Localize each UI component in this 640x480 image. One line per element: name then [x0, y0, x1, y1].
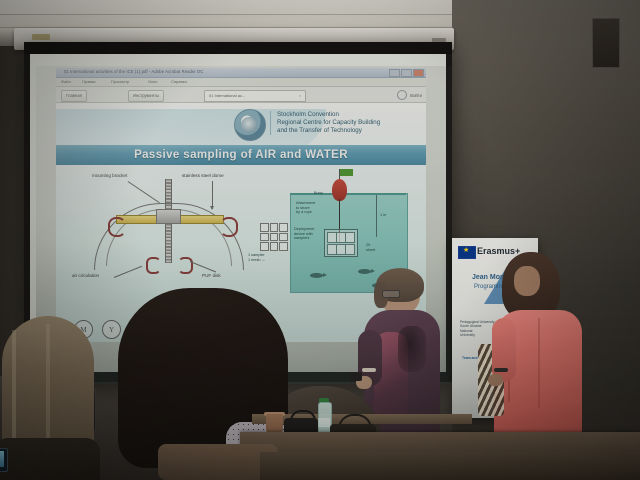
green-flag-icon: [340, 169, 353, 176]
label-sheet: 20 sheet: [366, 243, 375, 252]
label-mounting-bracket: mounting bracket: [92, 173, 127, 178]
eu-flag-icon: [458, 246, 476, 259]
label-buoy: Buoy: [314, 191, 323, 196]
pink-presenter-arm: [492, 318, 516, 382]
document-tab-label: 01 International ac...: [209, 93, 245, 98]
organisation-name: Stockholm Convention Regional Centre for…: [270, 111, 380, 135]
wristwatch: [494, 368, 508, 372]
sign-in-area[interactable]: Войти: [397, 90, 422, 100]
maximize-button[interactable]: [401, 69, 412, 77]
fish-icon: [310, 273, 323, 278]
account-icon[interactable]: [397, 90, 407, 100]
cardigan-fold-2: [538, 318, 540, 408]
speaker-top-pattern-2: [398, 326, 426, 372]
water-surface: [290, 193, 406, 195]
window-titlebar: 01 International activities of the ICE (…: [56, 68, 426, 78]
window-controls[interactable]: [389, 69, 424, 77]
phone-screen: [0, 448, 8, 472]
housing-badge: [32, 34, 50, 40]
slide-title-banner: Passive sampling of AIR and WATER: [56, 145, 426, 165]
depth-measure-line: [376, 195, 377, 237]
hair-strand: [12, 330, 16, 444]
hook-left-icon: [108, 217, 126, 237]
sign-in-label[interactable]: Войти: [410, 93, 422, 98]
hair-strand-2: [46, 324, 50, 444]
org-line-1: Stockholm Convention: [277, 111, 380, 119]
audience-left-shoulder: [0, 438, 100, 480]
toolbar: Главная Инструменты 01 International ac.…: [56, 87, 426, 103]
desk-front-panel: [260, 452, 640, 480]
clamp-right-icon: [178, 257, 193, 274]
glasses-icon: [382, 290, 400, 298]
menu-item-help[interactable]: Справка: [171, 79, 187, 84]
deployment-device: [324, 229, 358, 257]
label-samplers: 1 sampler 1 mesh →: [248, 253, 265, 262]
stockholm-convention-logo-icon: [234, 109, 266, 141]
home-tab-button[interactable]: Главная: [61, 90, 87, 102]
label-stainless-dome: stainless steel dome: [182, 173, 224, 178]
pink-presenter-face: [514, 266, 540, 296]
label-depth: 1 m: [380, 213, 386, 218]
presenter-pink: [492, 252, 584, 452]
label-device: Deployment device with samplers: [294, 227, 314, 241]
tools-tab-button[interactable]: Инструменты: [128, 90, 164, 102]
sampler-mesh-grid: [260, 223, 288, 251]
hook-right-icon: [220, 217, 238, 237]
minimize-button[interactable]: [389, 69, 400, 77]
menu-item-file[interactable]: Файл: [61, 79, 71, 84]
buoy-icon: [332, 179, 347, 201]
bottle-label: [318, 418, 330, 427]
org-line-3: and the Transfer of Technology: [277, 127, 380, 135]
audience-left: [0, 316, 104, 480]
mounting-bracket: [156, 209, 181, 224]
photo-scene: 01 International activities of the ICE (…: [0, 0, 640, 480]
menu-item-edit[interactable]: Правка: [82, 79, 96, 84]
close-icon[interactable]: ×: [299, 93, 301, 98]
speaker-bracelet: [362, 368, 376, 372]
menu-item-window[interactable]: Окно: [148, 79, 157, 84]
air-sampler-diagram: mounting bracket stainless steel dome ai…: [70, 173, 266, 293]
document-tab[interactable]: 01 International ac... ×: [204, 90, 306, 102]
label-puf-disk: PUF disk: [202, 273, 221, 278]
pink-presenter-hand: [488, 374, 503, 386]
presentation-clicker: [350, 372, 362, 381]
window-title: 01 International activities of the ICE (…: [64, 69, 203, 74]
label-attachment: Attachment to shore by a rope: [296, 201, 315, 215]
menu-bar[interactable]: Файл Правка Просмотр Окно Справка: [56, 78, 426, 87]
wall-vent: [592, 18, 620, 68]
label-air-circulation: air circulation: [72, 273, 99, 278]
coffee-cup: [266, 414, 283, 434]
screen-top-bar: [24, 42, 452, 54]
slide-title: Passive sampling of AIR and WATER: [134, 149, 348, 161]
close-button[interactable]: [413, 69, 424, 77]
menu-item-view[interactable]: Просмотр: [111, 79, 129, 84]
org-line-2: Regional Centre for Capacity Building: [277, 119, 380, 127]
clamp-left-icon: [146, 257, 161, 274]
